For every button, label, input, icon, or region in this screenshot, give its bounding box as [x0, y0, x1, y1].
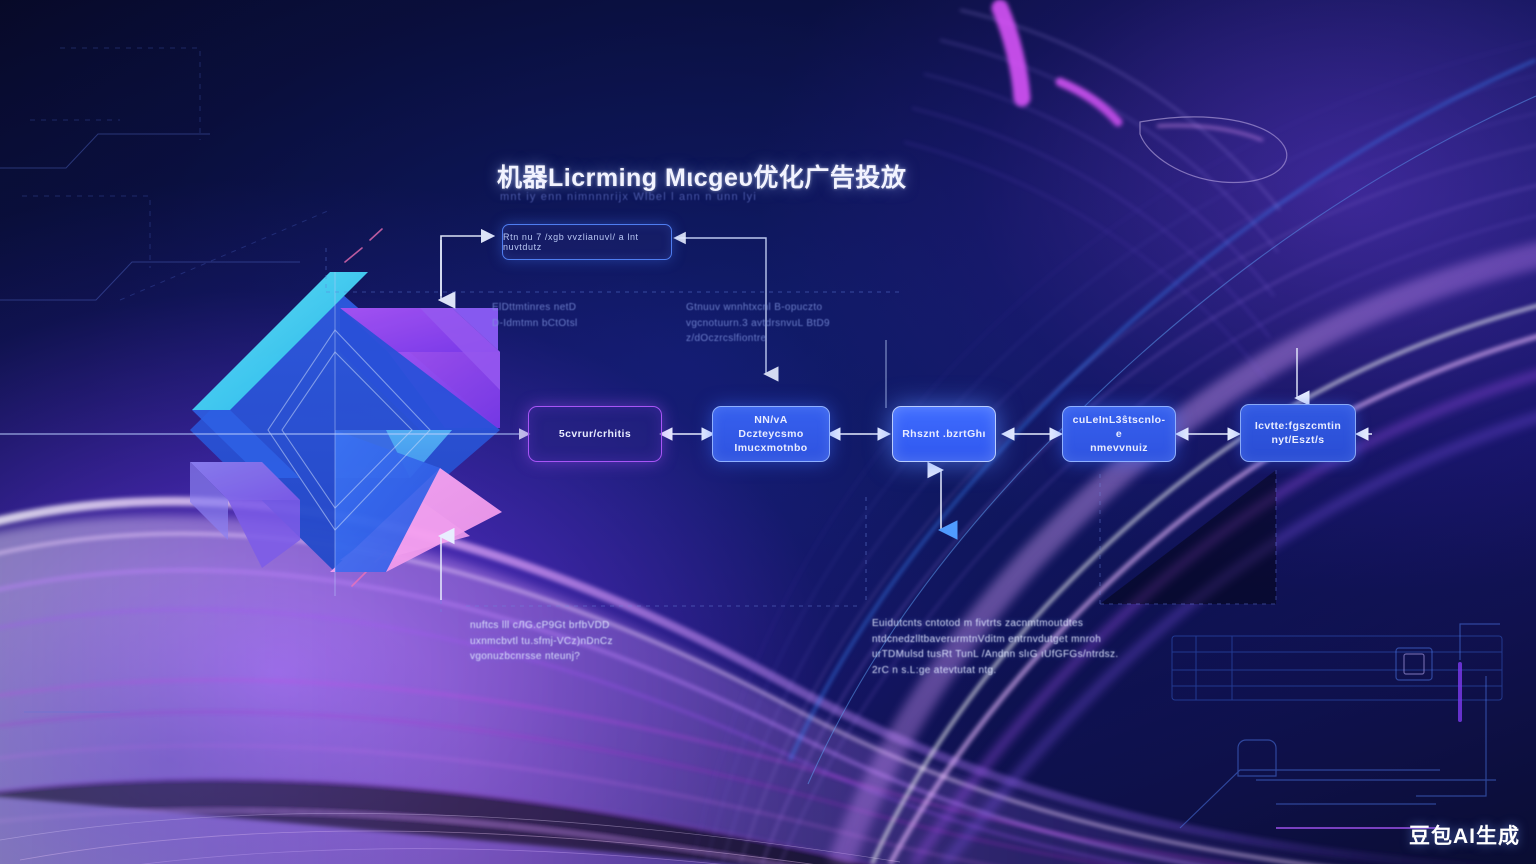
flow-node-2-line-1: NN/vA Dczteycsmo [721, 413, 821, 441]
annotation-top-mid-line-3: z/dOczrcslfiontre [686, 331, 916, 347]
annotation-bottom-mid-line-1: Euidutcnts cntotod m fivtrts zacnmtmoutd… [872, 616, 1122, 632]
annotation-bottom-mid-line-2: ntdcnedzlltbaverurmtnVditm entrnvdutget … [872, 632, 1122, 648]
flow-node-3[interactable]: Rhsznt .bzrtGhı [892, 406, 996, 462]
top-node-box[interactable]: Rtn nu 7 /xgb vvzlianuvl/ a lnt nuvtdutz [502, 224, 672, 260]
flow-node-5-line-2: nyt/Eszt/s [1271, 433, 1324, 447]
flow-node-2[interactable]: NN/vA Dczteycsmo Imucxmotnbo [712, 406, 830, 462]
annotation-top-mid-line-2: vgcnotuurn.3 avtdrsnvuL BtD9 [686, 316, 916, 332]
flow-node-1[interactable]: 5cvrur/crhitis [528, 406, 662, 462]
annotation-bottom-mid-line-3: urTDMulsd tusRt TunL /Andnn slıG ıUfGFGs… [872, 647, 1122, 663]
annotation-bottom-left-line-2: uxnmcbvtl tu.sfmj-VCz)nDnCz [470, 634, 700, 650]
top-node-label: Rtn nu 7 /xgb vvzlianuvl/ a lnt nuvtdutz [503, 232, 671, 252]
flow-node-4-line-2: nmevvnuiz [1090, 441, 1148, 455]
flow-node-5[interactable]: Icvtte:fgszcmtin nyt/Eszt/s [1240, 404, 1356, 462]
annotation-top-left: ElDttmtinres netD D-Idmtmn bCtOtsl [492, 300, 692, 331]
annotation-top-mid-line-1: Gtnuuv wnnhtxcnl B-opuczto [686, 300, 916, 316]
flow-node-2-line-2: Imucxmotnbo [734, 441, 807, 455]
annotation-bottom-left-line-1: nuftcs lll cЛG.cΡ9Gt brfbVDD [470, 618, 700, 634]
page-subtitle: mnt iy enn nimnnnrijx Wlbel l ann n unn … [500, 191, 757, 203]
annotation-bottom-left-line-3: vgonuzbcnrsse nteunj? [470, 649, 700, 665]
flow-node-3-label: Rhsznt .bzrtGhı [902, 427, 986, 441]
flow-node-1-label: 5cvrur/crhitis [559, 427, 631, 441]
flow-node-5-line-1: Icvtte:fgszcmtin [1255, 419, 1341, 433]
flow-node-4[interactable]: cuLeInL3ŝtscnlo-e nmevvnuiz [1062, 406, 1176, 462]
annotation-top-left-line-1: ElDttmtinres netD [492, 300, 692, 316]
flow-node-4-line-1: cuLeInL3ŝtscnlo-e [1071, 413, 1167, 441]
annotation-top-mid: Gtnuuv wnnhtxcnl B-opuczto vgcnotuurn.3 … [686, 300, 916, 347]
annotation-bottom-mid-line-4: 2rC n s.L:ge atevtutat ntg. [872, 663, 1122, 679]
poster-canvas: 机器Licrming Mιcgeυ优化广告投放 mnt iy enn nimnn… [0, 0, 1536, 864]
annotation-top-left-line-2: D-Idmtmn bCtOtsl [492, 316, 692, 332]
annotation-bottom-left: nuftcs lll cЛG.cΡ9Gt brfbVDD uxnmcbvtl t… [470, 618, 700, 665]
watermark-label: 豆包AI生成 [1409, 820, 1520, 850]
annotation-bottom-mid: Euidutcnts cntotod m fivtrts zacnmtmoutd… [872, 616, 1122, 678]
page-title: 机器Licrming Mιcgeυ优化广告投放 [497, 158, 906, 194]
